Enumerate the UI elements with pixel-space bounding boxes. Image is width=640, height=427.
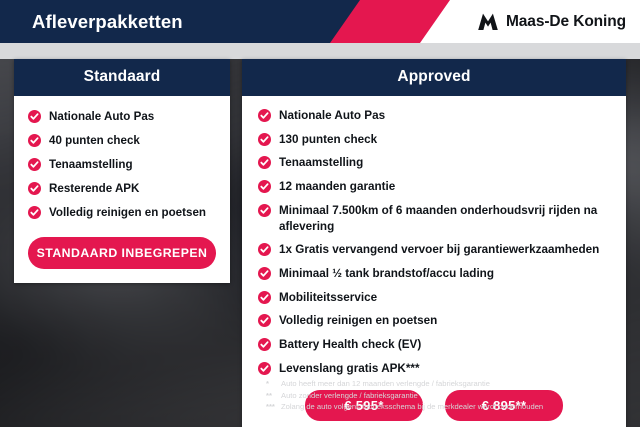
list-item: 12 maanden garantie (258, 179, 610, 195)
list-item: Volledig reinigen en poetsen (258, 313, 610, 329)
list-item: 1x Gratis vervangend vervoer bij garanti… (258, 242, 610, 258)
feature-label: Minimaal 7.500km of 6 maanden onderhouds… (279, 204, 597, 233)
feature-label: 1x Gratis vervangend vervoer bij garanti… (279, 243, 599, 256)
brand-lockup: Maas-De Koning (477, 0, 626, 43)
list-item: Minimaal ½ tank brandstof/accu lading (258, 266, 610, 282)
footnote-marker: * (266, 378, 281, 390)
feature-label: Battery Health check (EV) (279, 338, 421, 351)
feature-label: Nationale Auto Pas (49, 110, 154, 123)
package-card-standaard: Standaard Nationale Auto Pas 40 punten c… (14, 59, 230, 283)
list-item: Tenaamstelling (258, 155, 610, 171)
feature-label: Resterende APK (49, 182, 139, 195)
check-circle-icon (258, 133, 271, 146)
list-item: Nationale Auto Pas (258, 108, 610, 124)
footnote-text: Auto heeft meer dan 12 maanden verlengde… (281, 378, 622, 390)
package-card-approved: Approved Nationale Auto Pas 130 punten c… (242, 59, 626, 427)
list-item: Mobiliteitsservice (258, 290, 610, 306)
footnote-marker: ** (266, 390, 281, 402)
page-header: Afleverpakketten Maas-De Koning (0, 0, 640, 43)
list-item: 130 punten check (258, 132, 610, 148)
check-circle-icon (258, 180, 271, 193)
footnotes-block: * Auto heeft meer dan 12 maanden verleng… (266, 378, 622, 413)
check-circle-icon (258, 243, 271, 256)
feature-label: 40 punten check (49, 134, 140, 147)
package-body-standaard: Nationale Auto Pas 40 punten check Tenaa… (14, 96, 230, 283)
footnote-text: Zolang de auto volgens fabrieksschema bi… (281, 401, 622, 413)
feature-label: Tenaamstelling (279, 156, 363, 169)
feature-list-approved: Nationale Auto Pas 130 punten check Tena… (258, 108, 610, 377)
check-circle-icon (28, 158, 41, 171)
list-item: Resterende APK (28, 181, 216, 197)
list-item: 40 punten check (28, 133, 216, 149)
list-item: Levenslang gratis APK*** (258, 361, 610, 377)
feature-label: Nationale Auto Pas (279, 109, 385, 122)
page-root: Afleverpakketten Maas-De Koning Standaar… (0, 0, 640, 427)
feature-label: 12 maanden garantie (279, 180, 395, 193)
brand-name: Maas-De Koning (506, 13, 626, 31)
list-item: Volledig reinigen en poetsen (28, 205, 216, 221)
list-item: Nationale Auto Pas (28, 109, 216, 125)
list-item: Battery Health check (EV) (258, 337, 610, 353)
check-circle-icon (258, 291, 271, 304)
feature-label: Mobiliteitsservice (279, 291, 377, 304)
check-circle-icon (258, 204, 271, 217)
list-item: Tenaamstelling (28, 157, 216, 173)
check-circle-icon (28, 206, 41, 219)
check-circle-icon (258, 362, 271, 375)
footnote-text: Auto zonder verlengde / fabrieksgarantie (281, 390, 622, 402)
feature-label: Tenaamstelling (49, 158, 133, 171)
feature-label: Levenslang gratis APK*** (279, 362, 420, 375)
check-circle-icon (258, 109, 271, 122)
footnote-item: * Auto heeft meer dan 12 maanden verleng… (266, 378, 622, 390)
header-under-strip (0, 43, 640, 59)
check-circle-icon (28, 110, 41, 123)
feature-label: Volledig reinigen en poetsen (49, 206, 206, 219)
feature-list-standaard: Nationale Auto Pas 40 punten check Tenaa… (28, 109, 216, 221)
footnote-marker: *** (266, 401, 281, 413)
footnote-item: ** Auto zonder verlengde / fabrieksgaran… (266, 390, 622, 402)
page-title: Afleverpakketten (32, 0, 183, 43)
feature-label: Volledig reinigen en poetsen (279, 314, 437, 327)
check-circle-icon (28, 182, 41, 195)
standaard-inbegrepen-button[interactable]: STANDAARD INBEGREPEN (28, 237, 216, 269)
maas-de-koning-m-logo-icon (477, 13, 499, 31)
feature-label: Minimaal ½ tank brandstof/accu lading (279, 267, 494, 280)
package-title-standaard: Standaard (14, 59, 230, 96)
check-circle-icon (258, 314, 271, 327)
list-item: Minimaal 7.500km of 6 maanden onderhouds… (258, 203, 610, 235)
check-circle-icon (258, 156, 271, 169)
check-circle-icon (258, 267, 271, 280)
check-circle-icon (28, 134, 41, 147)
check-circle-icon (258, 338, 271, 351)
footnote-item: *** Zolang de auto volgens fabrieksschem… (266, 401, 622, 413)
feature-label: 130 punten check (279, 133, 377, 146)
package-title-approved: Approved (242, 59, 626, 96)
